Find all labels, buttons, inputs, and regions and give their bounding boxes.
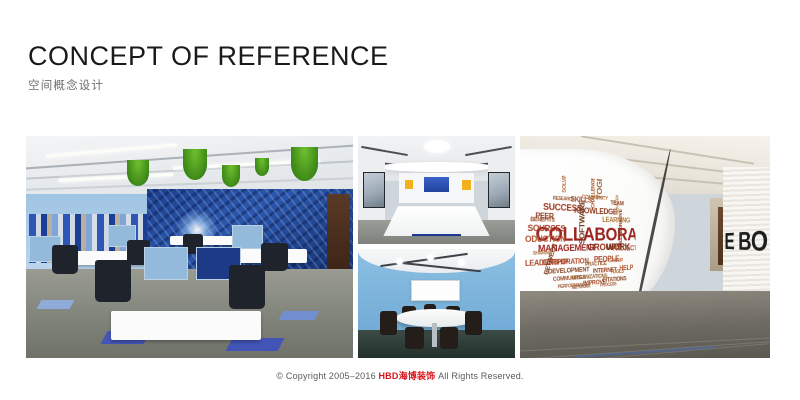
desk-screen	[232, 225, 263, 249]
photo-meeting-room[interactable]	[358, 249, 515, 358]
meeting-chair	[380, 311, 397, 335]
carpet-tile	[37, 300, 74, 309]
gallery-column-middle	[358, 136, 515, 358]
photo-reception-lobby[interactable]	[358, 136, 515, 244]
slide-root: CONCEPT OF REFERENCE 空间概念设计	[0, 0, 800, 400]
office-chair	[95, 260, 131, 302]
carpet-blue-line	[575, 346, 715, 357]
page-subtitle: 空间概念设计	[28, 78, 389, 92]
floor	[520, 291, 770, 358]
page-title: CONCEPT OF REFERENCE	[28, 40, 389, 72]
hanging-plant	[222, 165, 240, 187]
word-cloud-word: GROUP	[608, 258, 622, 264]
photo-open-plan-office[interactable]	[26, 136, 353, 358]
reception-counter	[383, 206, 490, 236]
word-cloud-word: COLLABORATIVE	[619, 209, 623, 250]
copyright-footer: © Copyright 2005–2016 HBD海博装饰 All Rights…	[0, 370, 800, 382]
word-cloud-word: ODUCTION	[525, 235, 566, 244]
meeting-chair	[440, 327, 459, 349]
brand-name: HBD海博装饰	[378, 371, 435, 381]
desk-screen	[144, 247, 189, 280]
word-cloud-word: CHALLENGE	[592, 177, 597, 208]
word-cloud-graphic: COLLABORATIONSUCCESSKNOWLEDGEMANAGEMENTC…	[525, 172, 635, 301]
curved-ceiling-feature	[380, 162, 493, 172]
meeting-chair	[405, 327, 424, 349]
meeting-chair	[465, 311, 482, 335]
office-chair	[261, 243, 287, 272]
yellow-accent	[462, 180, 471, 190]
counter-blue-band	[412, 234, 461, 236]
word-cloud-word: TOOLS	[610, 269, 623, 275]
word-cloud-word: SHARING	[533, 251, 552, 256]
photo-collaboration-corridor[interactable]: E BO COLLABORATIONSUCCESSKNOWLEDGEMANAGE…	[520, 136, 770, 358]
word-cloud-word: SOURCES	[528, 223, 566, 232]
office-chair	[229, 265, 265, 309]
carpet-tile	[279, 311, 320, 320]
hanging-plant	[255, 158, 269, 176]
pendant-lamp	[424, 140, 450, 153]
word-cloud-word: RESEARCH	[553, 196, 575, 202]
page-header: CONCEPT OF REFERENCE 空间概念设计	[28, 40, 389, 92]
word-cloud-word: BENEFITS	[530, 217, 554, 223]
wall-letters: E BO	[725, 225, 768, 259]
gallery-column-right: E BO COLLABORATIONSUCCESSKNOWLEDGEMANAGE…	[520, 136, 770, 358]
yellow-accent	[405, 180, 413, 189]
glass-office-wall	[488, 172, 510, 209]
word-cloud-word: SOFTWARE	[579, 199, 586, 244]
image-gallery: E BO COLLABORATIONSUCCESSKNOWLEDGEMANAGE…	[26, 136, 774, 358]
desk	[170, 236, 235, 245]
word-cloud-word: LEARNING	[602, 217, 630, 225]
word-cloud-word: NETWORK	[572, 285, 591, 291]
word-cloud-word: PRACTICE	[585, 261, 606, 267]
copyright-suffix: All Rights Reserved.	[435, 371, 523, 381]
copyright-prefix: © Copyright 2005–2016	[276, 371, 378, 381]
table-leg	[432, 323, 437, 347]
word-cloud-word: PROJECT	[612, 244, 635, 251]
glass-office-wall	[363, 172, 385, 209]
desk	[111, 311, 261, 340]
word-cloud-word: PROCESS	[600, 283, 616, 289]
blue-accent-wall	[424, 177, 449, 192]
carpet-tile	[225, 338, 284, 351]
word-cloud-word: INDUSTRY	[616, 194, 620, 214]
wood-door	[327, 194, 350, 269]
gallery-column-left	[26, 136, 353, 358]
office-chair	[52, 245, 78, 274]
spot-light	[396, 258, 403, 265]
word-cloud-word: DEVELOPMENT	[548, 266, 589, 275]
whiteboard	[411, 280, 460, 302]
hanging-plant	[291, 147, 318, 181]
